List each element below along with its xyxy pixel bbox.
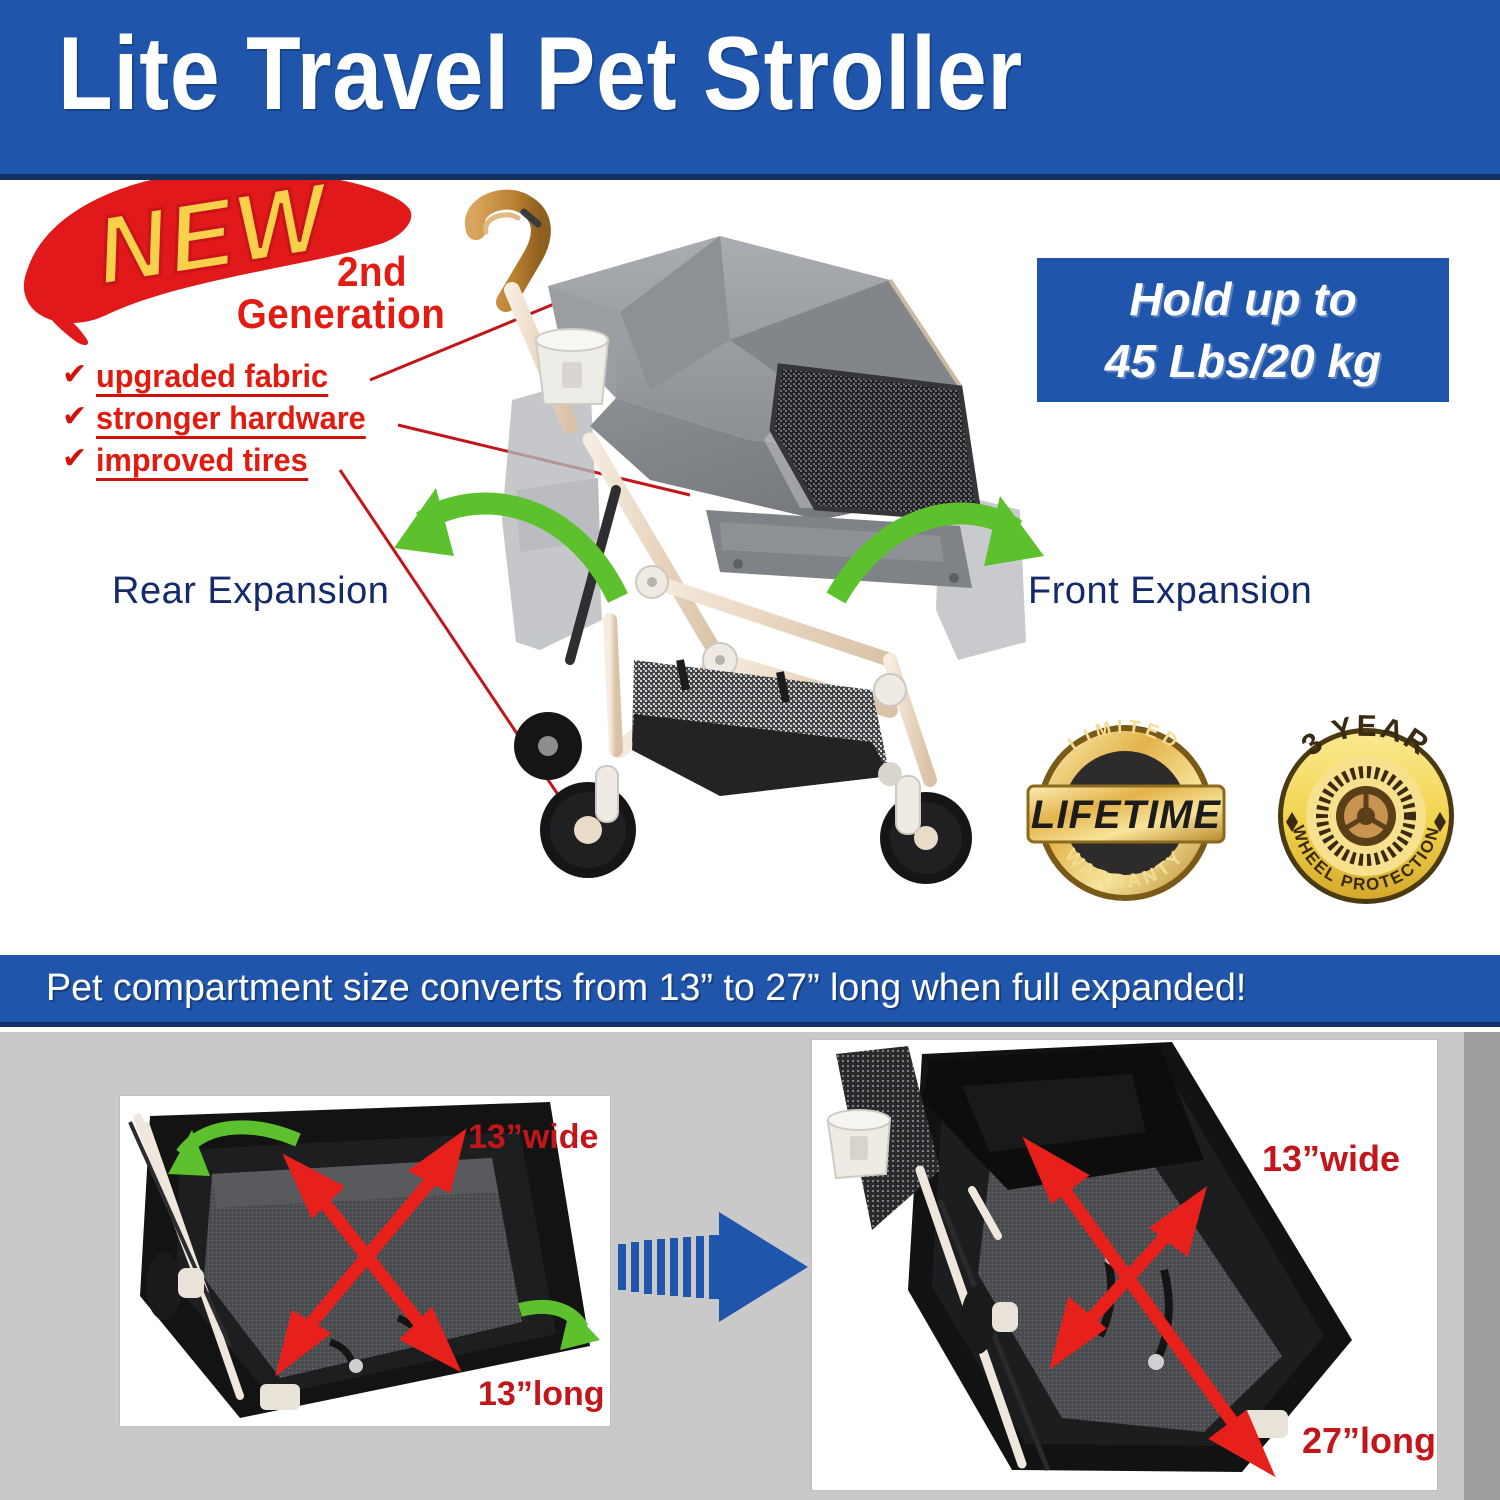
trust-badges: LIMITED WARRANTY LIFETIME [1020, 708, 1480, 918]
front-expansion-label: Front Expansion [1028, 570, 1312, 613]
capacity-line-1: Hold up to [1129, 268, 1356, 330]
wheel-protection-badge: 3 YEAR WHEEL PROTECTION [1278, 710, 1454, 904]
weight-capacity-box: Hold up to 45 Lbs/20 kg [1034, 255, 1452, 405]
conversion-banner: Pet compartment size converts from 13” t… [0, 955, 1500, 1027]
cup-holder [536, 329, 608, 404]
right-panel-width-label: 13”wide [1262, 1138, 1400, 1180]
left-panel-length-label: 13”long [478, 1375, 605, 1414]
rear-expansion-label: Rear Expansion [112, 570, 389, 613]
right-panel-length-label: 27”long [1302, 1420, 1436, 1462]
conversion-banner-text: Pet compartment size converts from 13” t… [46, 967, 1246, 1010]
page-title: Lite Travel Pet Stroller [58, 22, 1023, 126]
transition-arrow [618, 1212, 808, 1322]
product-infographic: Lite Travel Pet Stroller NEW 2nd Generat… [0, 0, 1500, 1500]
cup-holder-icon [828, 1110, 890, 1178]
main-feature-stage: NEW 2nd Generation ✔ upgraded fabric ✔ s… [0, 180, 1500, 955]
capacity-line-2: 45 Lbs/20 kg [1105, 330, 1381, 392]
left-panel-width-label: 13”wide [468, 1118, 598, 1157]
section-edge-strip [1464, 1032, 1500, 1500]
storage-basket [632, 660, 890, 796]
rear-expansion-arrow [380, 470, 640, 610]
limited-lifetime-warranty-badge: LIMITED WARRANTY LIFETIME [1028, 717, 1224, 901]
badge-center-text: LIFETIME [1031, 793, 1222, 837]
header-banner: Lite Travel Pet Stroller [0, 0, 1500, 180]
front-expansion-arrow [830, 480, 1060, 620]
